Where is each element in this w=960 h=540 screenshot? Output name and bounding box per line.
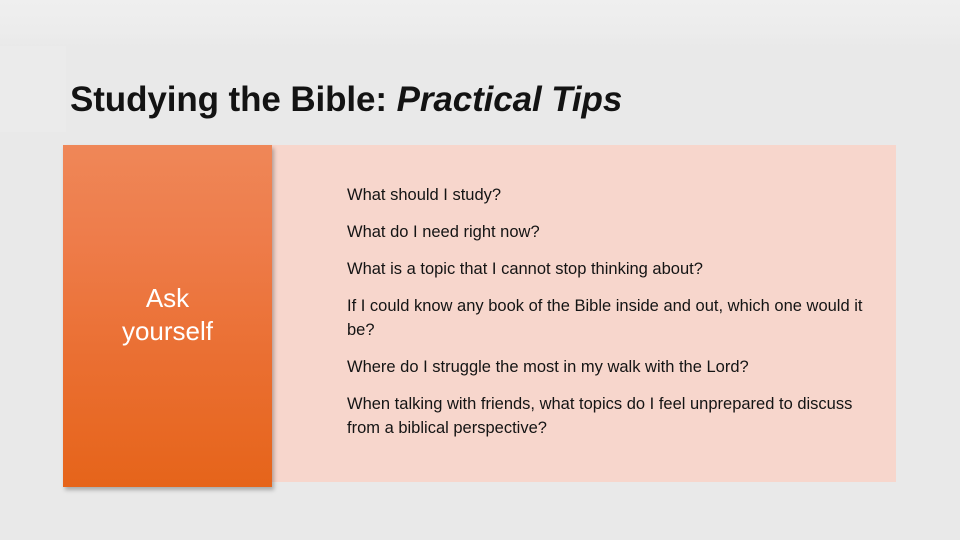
- list-item: What is a topic that I cannot stop think…: [347, 257, 871, 281]
- slide-canvas: Studying the Bible: Practical Tips Askyo…: [0, 0, 960, 540]
- ask-yourself-panel: Askyourself: [63, 145, 272, 487]
- page-title-main: Studying the Bible:: [70, 80, 397, 119]
- list-item: What should I study?: [347, 183, 871, 207]
- ask-yourself-label: Askyourself: [122, 282, 213, 350]
- questions-panel: What should I study? What do I need righ…: [272, 145, 896, 482]
- questions-list: What should I study? What do I need righ…: [347, 183, 871, 440]
- backdrop-highlight-band: [0, 0, 960, 46]
- backdrop-highlight-band-secondary: [0, 46, 66, 132]
- list-item: When talking with friends, what topics d…: [347, 392, 871, 440]
- list-item: Where do I struggle the most in my walk …: [347, 355, 871, 379]
- page-title-emphasis: Practical Tips: [397, 80, 623, 119]
- ask-yourself-label-line1: Ask: [146, 283, 189, 313]
- list-item: If I could know any book of the Bible in…: [347, 294, 871, 342]
- page-title: Studying the Bible: Practical Tips: [70, 77, 890, 123]
- ask-yourself-label-line2: yourself: [122, 316, 213, 346]
- list-item: What do I need right now?: [347, 220, 871, 244]
